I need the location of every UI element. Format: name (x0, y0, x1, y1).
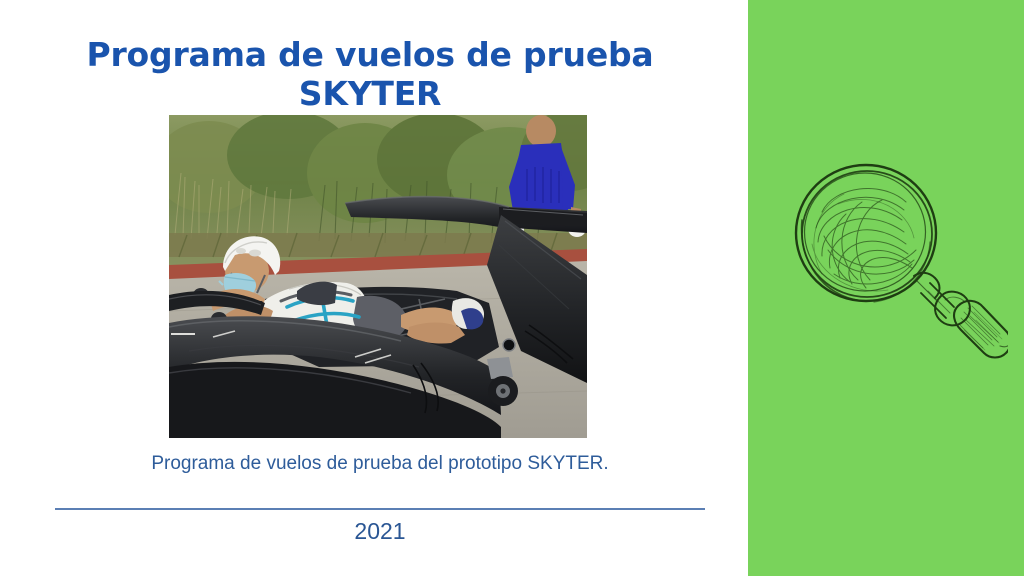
horizontal-divider (55, 508, 705, 510)
photo-caption: Programa de vuelos de prueba del prototi… (55, 452, 705, 477)
photo-image (169, 115, 587, 438)
slide-title-line-1: Programa de vuelos de prueba (48, 36, 692, 75)
green-decorative-panel (748, 0, 1024, 576)
slide-title: Programa de vuelos de prueba SKYTER (48, 36, 692, 114)
slide-photo (169, 115, 587, 438)
magnifying-glass-icon (778, 150, 1008, 380)
slide-title-line-2: SKYTER (48, 75, 692, 114)
year-label: 2021 (55, 516, 705, 547)
presentation-slide: Programa de vuelos de prueba SKYTER (0, 0, 1024, 576)
